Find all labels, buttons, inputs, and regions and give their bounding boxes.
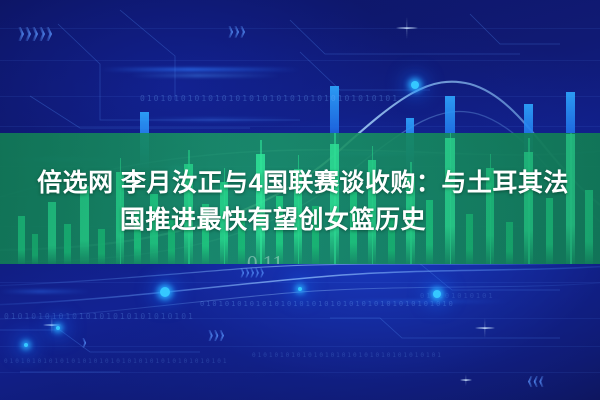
sparkle-icon [396, 17, 418, 39]
binary-string: 0101010101010101010101010101010101010101… [200, 300, 455, 308]
chevron-icon [46, 27, 52, 41]
chevron-icon [39, 27, 45, 41]
binary-string: 010101010101 [420, 292, 495, 300]
chevron-icon [25, 27, 31, 41]
glow-dot [433, 290, 441, 298]
binary-string: 0101010101010101010101010101010101010101 [4, 358, 229, 365]
chevron-icon [214, 330, 219, 341]
chevron-icon [219, 330, 224, 341]
chevron-group [228, 26, 245, 38]
headline-line-1: 倍选网 李月汝正与4国联赛谈收购：与土耳其法 [0, 165, 600, 202]
binary-string: 01010101010101010101010101010101010101 [140, 94, 399, 103]
chevron-icon [260, 268, 264, 278]
chevron-icon [255, 268, 259, 278]
glow-dot [56, 326, 60, 330]
chevron-group [82, 338, 86, 348]
headline: 倍选网 李月汝正与4国联赛谈收购：与土耳其法 国推进最快有望创女篮历史 [0, 165, 600, 239]
banner-image: 0101010101010101010101010101010101010101… [0, 0, 600, 400]
chevron-icon [240, 26, 245, 38]
sparkle-icon [460, 374, 472, 386]
headline-line-2: 国推进最快有望创女篮历史 [0, 202, 600, 239]
chevron-icon [82, 338, 86, 348]
chevron-group [208, 330, 224, 341]
price-number: 0.11 [247, 251, 283, 264]
chevron-group [240, 268, 264, 278]
chevron-icon [250, 268, 254, 278]
sparkle-icon [43, 316, 61, 334]
chevron-icon [240, 268, 244, 278]
chevron-icon [245, 268, 249, 278]
chevron-icon [528, 376, 533, 387]
chevron-group [18, 27, 52, 41]
chevron-icon [18, 27, 24, 41]
chevron-icon [534, 376, 539, 387]
glow-dot [160, 287, 170, 297]
glow-dot [411, 81, 419, 89]
glow-dot [24, 343, 28, 347]
chevron-icon [539, 376, 544, 387]
chevron-icon [228, 26, 233, 38]
glow-dot [298, 287, 302, 291]
sparkle-icon [475, 318, 495, 338]
chevron-icon [234, 26, 239, 38]
binary-string: 0101010101010101010101010101 [4, 312, 195, 321]
binary-string: 0101010101010101010101010101010101 [252, 352, 443, 359]
chevron-icon [208, 330, 213, 341]
chevron-icon [32, 27, 38, 41]
chevron-group [528, 376, 544, 387]
